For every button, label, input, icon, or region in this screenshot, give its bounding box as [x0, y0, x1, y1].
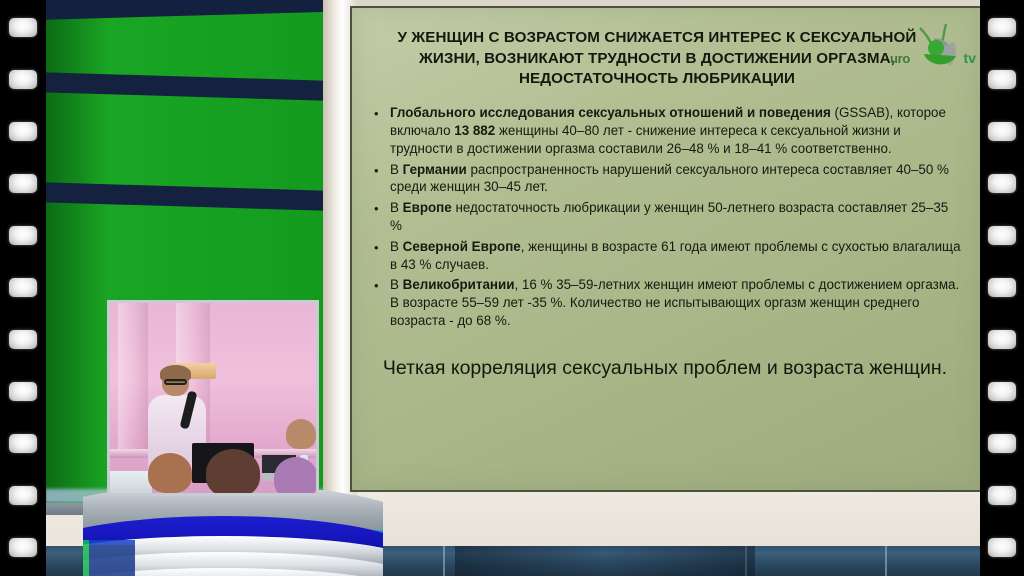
slide-bullet-list: • Глобального исследования сексуальных о…: [368, 104, 962, 330]
film-perforation: [9, 18, 37, 37]
film-perforation: [9, 70, 37, 89]
bullet-marker: •: [374, 104, 390, 122]
list-item: • В Европе недостаточность любрикации у …: [374, 199, 962, 235]
film-perforation: [988, 226, 1016, 245]
video-frame: У ЖЕНЩИН С ВОЗРАСТОМ СНИЖАЕТСЯ ИНТЕРЕС К…: [0, 0, 1024, 576]
floor-seam: [745, 546, 747, 576]
floor-seam: [885, 546, 887, 576]
bullet-tail: распространенность нарушений сексуальног…: [390, 162, 949, 195]
logo-suffix: tv: [964, 50, 976, 66]
bullet-marker: •: [374, 161, 390, 179]
news-desk: [83, 490, 383, 576]
bullet-prefix: В: [390, 200, 403, 215]
film-perforation: [9, 330, 37, 349]
film-perforation: [988, 70, 1016, 89]
speaker-inset-video: [107, 300, 319, 496]
bullet-lead: Европе: [403, 200, 452, 215]
film-perforation: [988, 18, 1016, 37]
bullet-text: В Германии распространенность нарушений …: [390, 161, 962, 197]
bullet-lead: Глобального исследования сексуальных отн…: [390, 105, 831, 120]
film-perforation: [988, 122, 1016, 141]
floor-seam: [443, 546, 445, 576]
film-perforation: [988, 538, 1016, 557]
film-perforation: [9, 174, 37, 193]
bullet-prefix: В: [390, 277, 403, 292]
filmstrip-right: [980, 0, 1024, 576]
audience-member: [148, 453, 192, 493]
film-perforation: [988, 434, 1016, 453]
film-perforation: [9, 278, 37, 297]
bullet-lead: Северной Европе: [403, 239, 521, 254]
bullet-emphasis: 13 882: [454, 123, 495, 138]
audience-member: [274, 457, 318, 496]
film-perforation: [988, 330, 1016, 349]
film-perforation: [988, 278, 1016, 297]
film-perforation: [9, 122, 37, 141]
slide-conclusion: Четкая корреляция сексуальных проблем и …: [368, 356, 962, 382]
list-item: • Глобального исследования сексуальных о…: [374, 104, 962, 157]
filmstrip-left: [0, 0, 46, 576]
speaker-glasses: [164, 379, 187, 385]
tv-studio-background: У ЖЕНЩИН С ВОЗРАСТОМ СНИЖАЕТСЯ ИНТЕРЕС К…: [45, 0, 980, 576]
hall-column: [118, 303, 148, 453]
bullet-prefix: В: [390, 162, 403, 177]
list-item: • В Северной Европе, женщины в возрасте …: [374, 238, 962, 274]
film-perforation: [9, 434, 37, 453]
film-perforation: [988, 382, 1016, 401]
slide-title: У ЖЕНЩИН С ВОЗРАСТОМ СНИЖАЕТСЯ ИНТЕРЕС К…: [368, 22, 962, 90]
film-perforation: [9, 382, 37, 401]
bullet-marker: •: [374, 238, 390, 256]
film-perforation: [9, 226, 37, 245]
film-perforation: [9, 486, 37, 505]
bullet-lead: Германии: [403, 162, 467, 177]
bullet-text: Глобального исследования сексуальных отн…: [390, 104, 962, 157]
bullet-marker: •: [374, 199, 390, 217]
bullet-lead: Великобритании: [403, 277, 515, 292]
desk-led-panel: [83, 540, 135, 576]
audience-chairs: [110, 471, 152, 496]
film-perforation: [988, 174, 1016, 193]
film-perforation: [9, 538, 37, 557]
list-item: • В Великобритании, 16 % 35–59-летних же…: [374, 276, 962, 329]
wall-stripe: [45, 182, 335, 211]
presentation-slide: У ЖЕНЩИН С ВОЗРАСТОМ СНИЖАЕТСЯ ИНТЕРЕС К…: [350, 6, 980, 492]
wall-stripe: [45, 72, 335, 101]
bullet-text: В Северной Европе, женщины в возрасте 61…: [390, 238, 962, 274]
film-perforation: [988, 486, 1016, 505]
list-item: • В Германии распространенность нарушени…: [374, 161, 962, 197]
bullet-text: В Великобритании, 16 % 35–59-летних женщ…: [390, 276, 962, 329]
bullet-marker: •: [374, 276, 390, 294]
bullet-prefix: В: [390, 239, 403, 254]
bullet-tail: недостаточность любрикации у женщин 50-л…: [390, 200, 948, 233]
audience-member: [206, 449, 260, 496]
bullet-text: В Европе недостаточность любрикации у же…: [390, 199, 962, 235]
audience-member: [286, 419, 316, 449]
